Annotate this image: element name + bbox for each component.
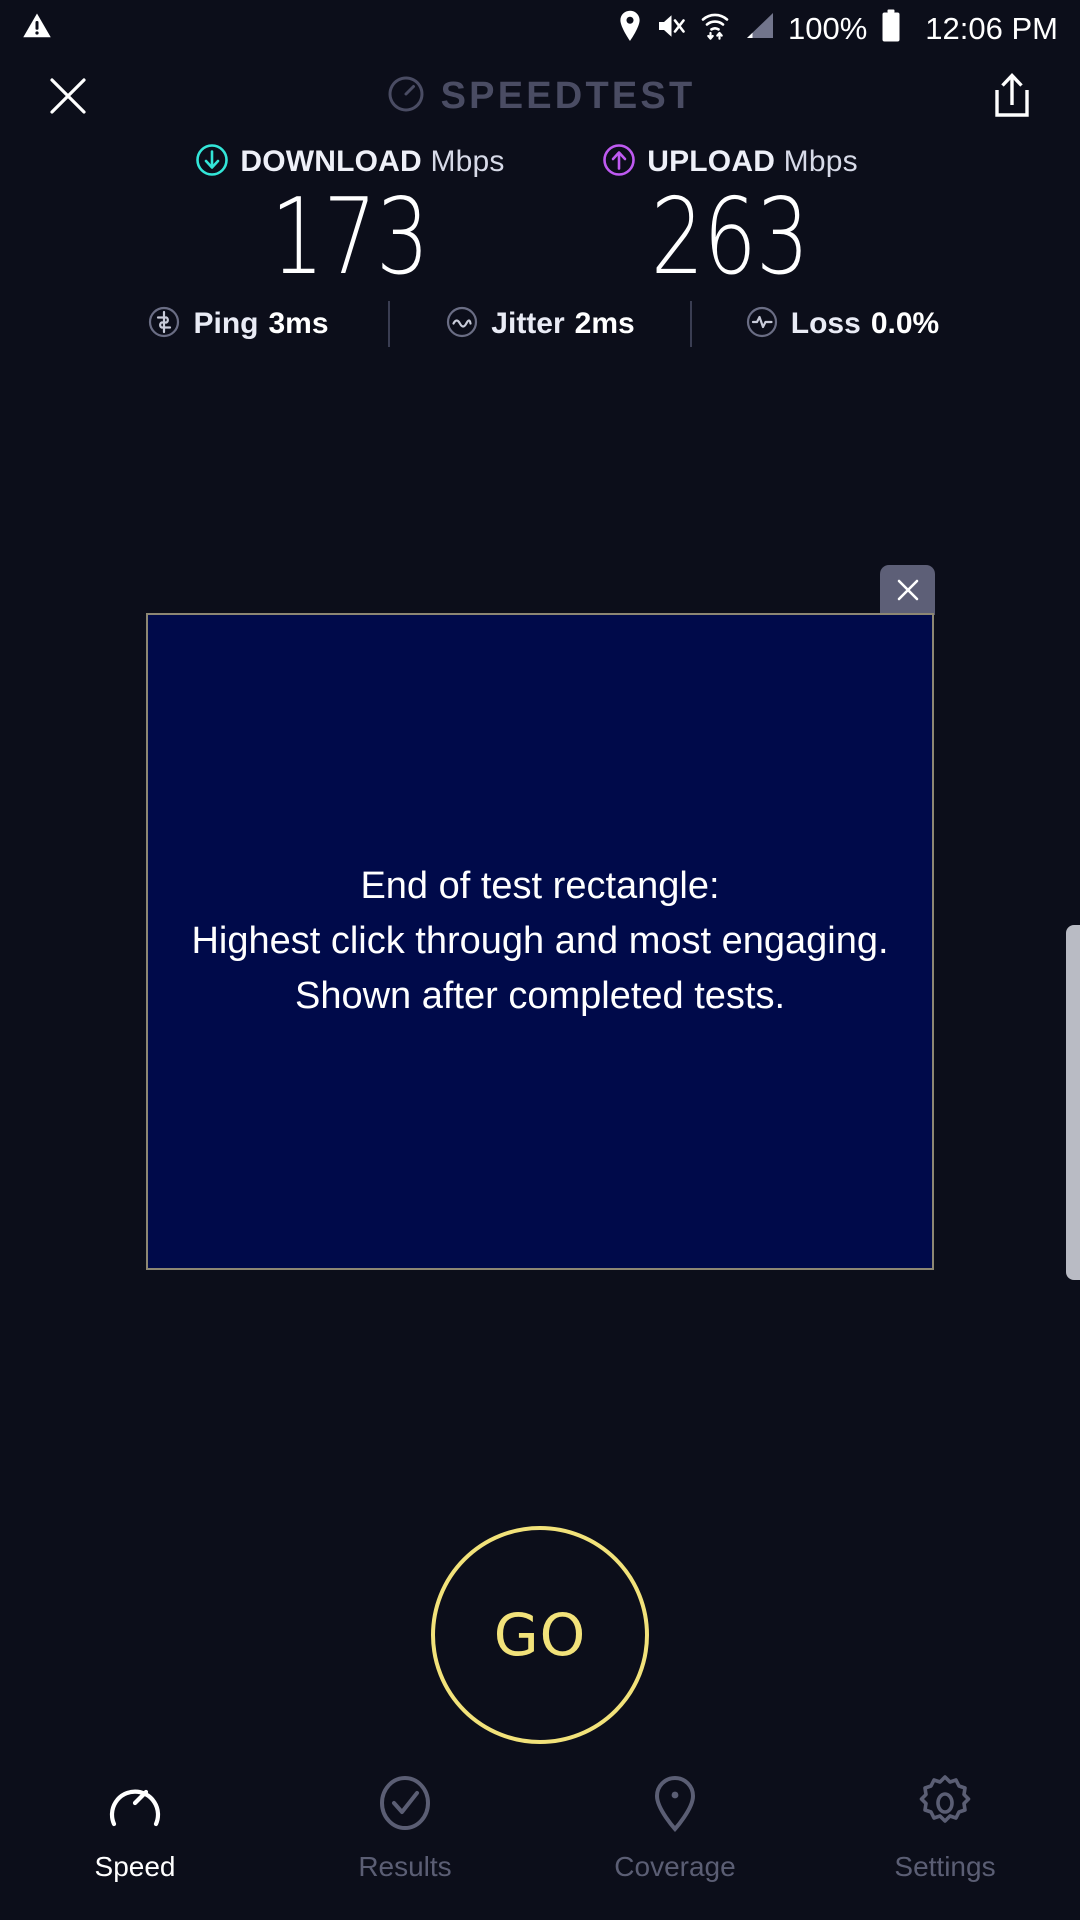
upload-result: UPLOAD Mbps 263	[540, 142, 920, 291]
ad-close-button[interactable]	[880, 565, 935, 615]
nav-item-settings[interactable]: Settings	[810, 1772, 1080, 1883]
results-panel: DOWNLOAD Mbps 173 UPLOAD Mbps 263	[0, 142, 1080, 291]
close-icon	[893, 575, 923, 605]
volume-muted-icon	[656, 11, 687, 46]
nav-item-coverage[interactable]: Coverage	[540, 1772, 810, 1883]
gear-icon	[914, 1772, 976, 1839]
ad-line-1: End of test rectangle:	[191, 859, 888, 914]
results-row: DOWNLOAD Mbps 173 UPLOAD Mbps 263	[0, 142, 1080, 291]
go-button[interactable]: GO	[431, 1526, 649, 1744]
nav-item-settings-label: Settings	[894, 1851, 995, 1883]
metric-ping-label: Ping	[193, 307, 258, 341]
metric-jitter: Jitter 2ms	[390, 305, 690, 344]
location-pin-icon	[644, 1772, 706, 1839]
status-bar-clock: 12:06 PM	[925, 13, 1058, 44]
brand-logo: SPEEDTEST	[0, 73, 1080, 120]
cell-signal-icon	[743, 11, 775, 46]
metric-loss: Loss 0.0%	[692, 305, 992, 344]
arrow-down-circle-icon	[195, 143, 229, 182]
metric-ping-value: 3ms	[268, 307, 328, 341]
metric-jitter-label: Jitter	[491, 307, 564, 341]
metric-loss-label: Loss	[791, 307, 861, 341]
page-scrollbar[interactable]	[1066, 925, 1080, 1280]
go-button-label: GO	[494, 1601, 587, 1669]
download-result: DOWNLOAD Mbps 173	[160, 142, 540, 291]
ad-line-2: Highest click through and most engaging.	[191, 914, 888, 969]
nav-item-results[interactable]: Results	[270, 1772, 540, 1883]
wifi-icon	[700, 10, 730, 47]
check-circle-icon	[374, 1772, 436, 1839]
download-value: 173	[271, 184, 429, 291]
ping-icon	[147, 305, 181, 344]
advertisement-banner[interactable]: End of test rectangle: Highest click thr…	[146, 613, 934, 1270]
upload-label: UPLOAD Mbps	[647, 145, 858, 179]
nav-item-speed-label: Speed	[95, 1851, 176, 1883]
app-header: SPEEDTEST	[0, 56, 1080, 136]
battery-full-icon	[880, 9, 902, 48]
ad-line-3: Shown after completed tests.	[191, 969, 888, 1024]
share-button[interactable]	[976, 60, 1048, 132]
speedometer-icon	[385, 73, 427, 120]
battery-percent: 100%	[788, 13, 867, 44]
share-icon	[989, 71, 1035, 121]
metrics-row: Ping 3ms Jitter 2ms Loss 0.0%	[0, 296, 1080, 352]
speedometer-icon	[104, 1772, 166, 1839]
nav-item-results-label: Results	[358, 1851, 451, 1883]
nav-item-speed[interactable]: Speed	[0, 1772, 270, 1883]
warning-triangle-icon	[22, 11, 52, 46]
ad-text: End of test rectangle: Highest click thr…	[191, 859, 888, 1024]
location-pin-icon	[617, 10, 643, 47]
status-bar: 100% 12:06 PM	[0, 0, 1080, 56]
nav-item-coverage-label: Coverage	[614, 1851, 735, 1883]
metric-ping: Ping 3ms	[88, 305, 388, 344]
arrow-up-circle-icon	[602, 143, 636, 182]
brand-title: SPEEDTEST	[441, 77, 696, 115]
metric-jitter-value: 2ms	[575, 307, 635, 341]
metric-loss-value: 0.0%	[871, 307, 939, 341]
status-bar-left	[22, 11, 52, 46]
status-bar-right: 100% 12:06 PM	[617, 9, 1058, 48]
upload-value: 263	[651, 184, 809, 291]
jitter-icon	[445, 305, 479, 344]
loss-icon	[745, 305, 779, 344]
bottom-navigation: Speed Results Coverage Settings	[0, 1760, 1080, 1920]
download-label: DOWNLOAD Mbps	[240, 145, 504, 179]
